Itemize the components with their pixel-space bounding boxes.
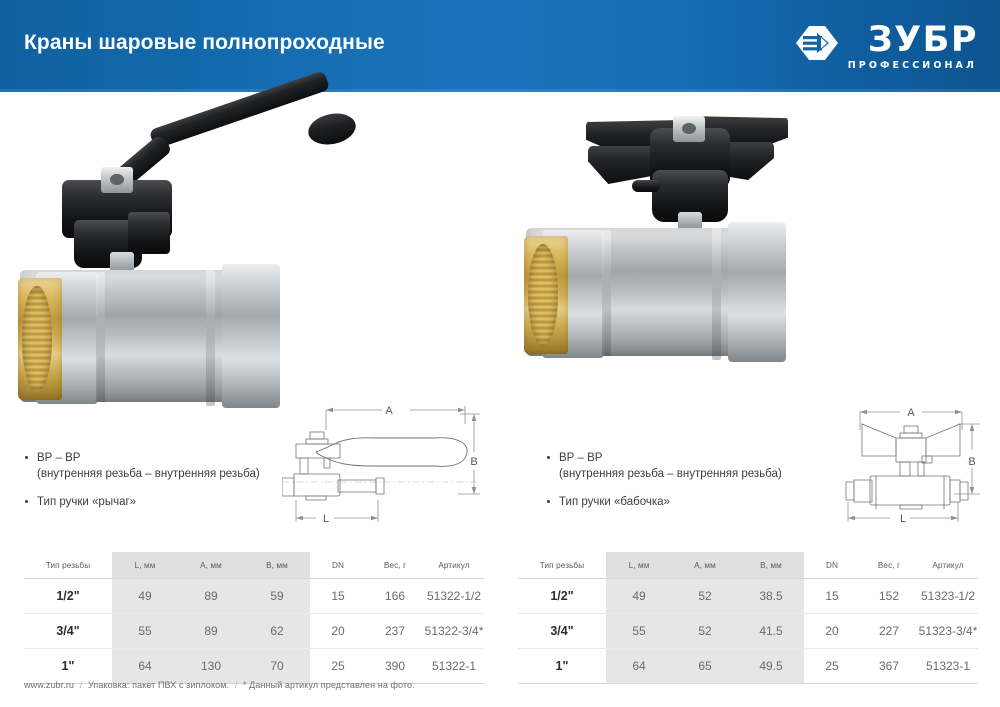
cell-article: 51323-1 bbox=[918, 649, 978, 684]
feature-thread-desc: (внутренняя резьба – внутренняя резьба) bbox=[37, 466, 314, 482]
feature-list-butterfly: ВР – ВР (внутренняя резьба – внутренняя … bbox=[546, 450, 836, 521]
spec-table-butterfly: Тип резьбы L, мм А, мм В, мм DN Вес, г А… bbox=[518, 552, 978, 684]
brass-thread-bore bbox=[528, 244, 558, 346]
list-item: Тип ручки «рычаг» bbox=[24, 494, 314, 510]
col-header-weight: Вес, г bbox=[860, 552, 918, 579]
dimension-label-a: A bbox=[907, 407, 915, 419]
spec-table-wrapper-butterfly: Тип резьбы L, мм А, мм В, мм DN Вес, г А… bbox=[518, 552, 978, 684]
cell-a: 89 bbox=[178, 614, 244, 649]
spec-table-wrapper-lever: Тип резьбы L, мм А, мм В, мм DN Вес, г А… bbox=[24, 552, 484, 684]
cell-a: 130 bbox=[178, 649, 244, 684]
technical-drawing-butterfly: A B L bbox=[840, 394, 992, 526]
cell-b: 38.5 bbox=[738, 579, 804, 614]
cell-l: 64 bbox=[112, 649, 178, 684]
cell-b: 62 bbox=[244, 614, 310, 649]
product-photo-lever bbox=[0, 92, 500, 422]
brass-thread-bore bbox=[22, 286, 52, 392]
dimension-label-l: L bbox=[900, 513, 906, 525]
cell-b: 41.5 bbox=[738, 614, 804, 649]
feature-thread-desc: (внутренняя резьба – внутренняя резьба) bbox=[559, 466, 836, 482]
col-header-b: В, мм bbox=[738, 552, 804, 579]
footer-packaging: Упаковка: пакет ПВХ с зиплоком. bbox=[88, 680, 229, 690]
valve-band-2 bbox=[206, 268, 215, 406]
cell-article: 51323-1/2 bbox=[918, 579, 978, 614]
table-row: 1" 64 65 49.5 25 367 51323-1 bbox=[518, 649, 978, 684]
cell-weight: 367 bbox=[860, 649, 918, 684]
cell-article: 51322-1/2 bbox=[424, 579, 484, 614]
dimension-label-b: B bbox=[470, 456, 477, 468]
cell-dn: 25 bbox=[310, 649, 366, 684]
cell-article: 51322-3/4* bbox=[424, 614, 484, 649]
feature-handle-type: Тип ручки «бабочка» bbox=[559, 494, 836, 510]
cell-weight: 166 bbox=[366, 579, 424, 614]
cell-thread: 3/4" bbox=[24, 614, 112, 649]
cell-thread: 1" bbox=[24, 649, 112, 684]
table-row: 3/4" 55 52 41.5 20 227 51323-3/4* bbox=[518, 614, 978, 649]
cell-b: 49.5 bbox=[738, 649, 804, 684]
cell-weight: 227 bbox=[860, 614, 918, 649]
col-header-l: L, мм bbox=[606, 552, 672, 579]
col-header-b: В, мм bbox=[244, 552, 310, 579]
col-header-dn: DN bbox=[804, 552, 860, 579]
product-block-butterfly: ВР – ВР (внутренняя резьба – внутренняя … bbox=[500, 92, 1000, 707]
logo-wordmark: ЗУБР bbox=[868, 24, 978, 56]
cell-dn: 15 bbox=[804, 579, 860, 614]
list-item: ВР – ВР (внутренняя резьба – внутренняя … bbox=[546, 450, 836, 483]
stem-nut-hole bbox=[682, 123, 696, 134]
handle-cap-lip bbox=[128, 212, 170, 254]
cell-l: 64 bbox=[606, 649, 672, 684]
footer-separator-2: / bbox=[232, 680, 241, 690]
cell-article: 51323-3/4* bbox=[918, 614, 978, 649]
col-header-l: L, мм bbox=[112, 552, 178, 579]
cell-dn: 15 bbox=[310, 579, 366, 614]
table-row: 3/4" 55 89 62 20 237 51322-3/4* bbox=[24, 614, 484, 649]
feature-thread-type: ВР – ВР bbox=[37, 450, 314, 466]
footer-separator-1: / bbox=[77, 680, 86, 690]
spec-table-lever: Тип резьбы L, мм А, мм В, мм DN Вес, г А… bbox=[24, 552, 484, 684]
cell-b: 59 bbox=[244, 579, 310, 614]
cell-thread: 3/4" bbox=[518, 614, 606, 649]
col-header-a: А, мм bbox=[178, 552, 244, 579]
table-header-row: Тип резьбы L, мм А, мм В, мм DN Вес, г А… bbox=[518, 552, 978, 579]
zubr-logo-mark bbox=[795, 25, 839, 61]
footer-website[interactable]: www.zubr.ru bbox=[24, 680, 74, 690]
feature-handle-type: Тип ручки «рычаг» bbox=[37, 494, 314, 510]
col-header-thread: Тип резьбы bbox=[518, 552, 606, 579]
cell-b: 70 bbox=[244, 649, 310, 684]
product-photo-butterfly bbox=[500, 92, 1000, 422]
cell-thread: 1" bbox=[518, 649, 606, 684]
cell-thread: 1/2" bbox=[24, 579, 112, 614]
cell-l: 49 bbox=[606, 579, 672, 614]
valve-band-1 bbox=[602, 230, 611, 356]
cell-l: 55 bbox=[112, 614, 178, 649]
table-header-row: Тип резьбы L, мм А, мм В, мм DN Вес, г А… bbox=[24, 552, 484, 579]
table-row: 1" 64 130 70 25 390 51322-1 bbox=[24, 649, 484, 684]
valve-nut-right bbox=[728, 222, 786, 362]
valve-band-2 bbox=[712, 226, 721, 360]
col-header-weight: Вес, г bbox=[366, 552, 424, 579]
brand-logo: ЗУБР ПРОФЕССИОНАЛ bbox=[795, 24, 978, 70]
cell-thread: 1/2" bbox=[518, 579, 606, 614]
dimension-label-a: A bbox=[385, 405, 393, 417]
cell-a: 52 bbox=[672, 614, 738, 649]
footer-note: * Данный артикул представлен на фото. bbox=[243, 680, 415, 690]
page-footer: www.zubr.ru / Упаковка: пакет ПВХ с зипл… bbox=[24, 680, 415, 690]
table-row: 1/2" 49 52 38.5 15 152 51323-1/2 bbox=[518, 579, 978, 614]
cell-l: 55 bbox=[606, 614, 672, 649]
cell-a: 65 bbox=[672, 649, 738, 684]
valve-nut-right bbox=[222, 264, 280, 408]
cell-weight: 390 bbox=[366, 649, 424, 684]
table-row: 1/2" 49 89 59 15 166 51322-1/2 bbox=[24, 579, 484, 614]
col-header-a: А, мм bbox=[672, 552, 738, 579]
stem-nut-hole bbox=[110, 174, 124, 185]
cell-article: 51322-1 bbox=[424, 649, 484, 684]
product-block-lever: ВР – ВР (внутренняя резьба – внутренняя … bbox=[0, 92, 500, 707]
cell-l: 49 bbox=[112, 579, 178, 614]
logo-subtitle: ПРОФЕССИОНАЛ bbox=[848, 60, 977, 71]
dimension-label-l: L bbox=[323, 513, 329, 525]
feature-thread-type: ВР – ВР bbox=[559, 450, 836, 466]
page-header: Краны шаровые полнопроходные ЗУБР ПРОФЕС… bbox=[0, 0, 1000, 92]
handle-latch bbox=[632, 180, 660, 192]
list-item: Тип ручки «бабочка» bbox=[546, 494, 836, 510]
cell-dn: 20 bbox=[804, 614, 860, 649]
col-header-article: Артикул bbox=[424, 552, 484, 579]
page-title: Краны шаровые полнопроходные bbox=[24, 31, 385, 55]
cell-dn: 25 bbox=[804, 649, 860, 684]
cell-weight: 152 bbox=[860, 579, 918, 614]
col-header-article: Артикул bbox=[918, 552, 978, 579]
cell-a: 52 bbox=[672, 579, 738, 614]
lever-handle-tip bbox=[305, 109, 358, 148]
cell-a: 89 bbox=[178, 579, 244, 614]
col-header-dn: DN bbox=[310, 552, 366, 579]
feature-list-lever: ВР – ВР (внутренняя резьба – внутренняя … bbox=[24, 450, 314, 521]
valve-band-1 bbox=[96, 272, 105, 402]
dimension-label-b: B bbox=[968, 456, 975, 468]
list-item: ВР – ВР (внутренняя резьба – внутренняя … bbox=[24, 450, 314, 483]
cell-dn: 20 bbox=[310, 614, 366, 649]
col-header-thread: Тип резьбы bbox=[24, 552, 112, 579]
technical-drawing-lever: A B L bbox=[282, 392, 497, 527]
cell-weight: 237 bbox=[366, 614, 424, 649]
